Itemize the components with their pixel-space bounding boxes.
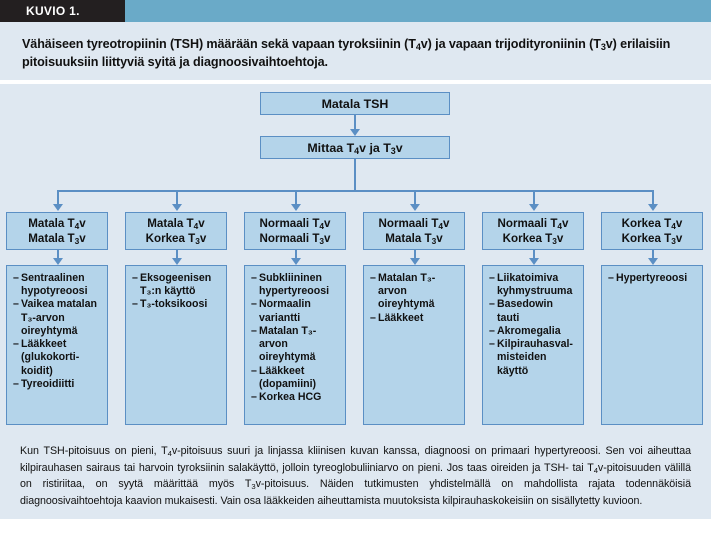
cap-s3-sub: 3 bbox=[251, 482, 255, 491]
c2h2a: Korkea T bbox=[146, 232, 196, 245]
list-item: Tyreoidiitti bbox=[13, 378, 102, 391]
connector-bus-horizontal bbox=[57, 190, 653, 192]
figure-title-block: Vähäiseen tyreotropiinin (TSH) määrään s… bbox=[0, 22, 711, 80]
c5h1s: 4 bbox=[557, 221, 562, 231]
column-list-5-items: Liikatoimiva kyhmystruuma Basedowin taut… bbox=[489, 272, 578, 378]
column-list-6: Hypertyreoosi bbox=[601, 265, 703, 425]
title-line2-subscript: 3 bbox=[601, 42, 606, 52]
c4h2b: v bbox=[436, 232, 442, 245]
arrowhead-list-2 bbox=[172, 258, 182, 265]
column-header-2: Matala T4v Korkea T3v bbox=[125, 212, 227, 250]
col6-head-line2: Korkea T3v bbox=[622, 231, 683, 246]
list-item: Matalan T₃-arvon oireyhtymä bbox=[251, 325, 340, 365]
column-header-1: Matala T4v Matala T3v bbox=[6, 212, 108, 250]
figure-caption-text: Kun TSH-pitoisuus on pieni, T4v-pitoisuu… bbox=[20, 443, 691, 509]
c1h1s: 4 bbox=[75, 221, 80, 231]
arrowhead-col-3 bbox=[291, 204, 301, 211]
col4-head-line2: Matala T3v bbox=[385, 231, 442, 246]
arrowhead-root-to-measure bbox=[350, 129, 360, 136]
col1-head-line1: Matala T4v bbox=[28, 216, 85, 231]
c4h2s: 3 bbox=[432, 236, 437, 246]
arrowhead-list-3 bbox=[291, 258, 301, 265]
c5h2a: Korkea T bbox=[503, 232, 553, 245]
c1h2b: v bbox=[79, 232, 85, 245]
arrowhead-list-1 bbox=[53, 258, 63, 265]
c3h1s: 4 bbox=[319, 221, 324, 231]
arrowhead-list-6 bbox=[648, 258, 658, 265]
c6h2b: v bbox=[676, 232, 682, 245]
flow-node-mittaa: Mittaa T4v ja T3v bbox=[260, 136, 450, 159]
col5-head-line1: Normaali T4v bbox=[497, 216, 568, 231]
c2h1a: Matala T bbox=[147, 217, 193, 230]
c1h2s: 3 bbox=[75, 236, 80, 246]
c4h1a: Normaali T bbox=[378, 217, 438, 230]
col2-head-line2: Korkea T3v bbox=[146, 231, 207, 246]
list-item: Korkea HCG bbox=[251, 391, 340, 404]
column-header-3: Normaali T4v Normaali T3v bbox=[244, 212, 346, 250]
list-item: Lääkkeet (dopamiini) bbox=[251, 365, 340, 391]
c5h1b: v bbox=[562, 217, 568, 230]
list-item: Eksogeenisen T₃:n käyttö bbox=[132, 272, 221, 298]
col2-head-line1: Matala T4v bbox=[147, 216, 204, 231]
c5h2b: v bbox=[557, 232, 563, 245]
arrowhead-col-2 bbox=[172, 204, 182, 211]
arrowhead-col-5 bbox=[529, 204, 539, 211]
mittaa-b: v ja T bbox=[359, 141, 391, 155]
column-list-3-items: Subkliininen hypertyreoosi Normaalin var… bbox=[251, 272, 340, 404]
list-item: Normaalin variantti bbox=[251, 298, 340, 324]
c3h2s: 3 bbox=[319, 236, 324, 246]
mittaa-sub1: 4 bbox=[354, 146, 359, 156]
col4-head-line1: Normaali T4v bbox=[378, 216, 449, 231]
flowchart-area: Matala TSH Mittaa T4v ja T3v Matala T4v … bbox=[0, 84, 711, 434]
list-item: Liikatoimiva kyhmystruuma bbox=[489, 272, 578, 298]
figure-caption-block: Kun TSH-pitoisuus on pieni, T4v-pitoisuu… bbox=[0, 434, 711, 519]
list-item: Sentraalinen hypotyreoosi bbox=[13, 272, 102, 298]
arrowhead-list-4 bbox=[410, 258, 420, 265]
list-item: Basedowin tauti bbox=[489, 298, 578, 324]
title-line1-part-a: Vähäiseen tyreotropiinin (TSH) määrään s… bbox=[22, 37, 416, 51]
cap-s1-sub: 4 bbox=[168, 449, 172, 458]
c3h2b: v bbox=[324, 232, 330, 245]
figure-number-tag: KUVIO 1. bbox=[0, 0, 125, 22]
list-item: T₃-toksikoosi bbox=[132, 298, 221, 311]
c3h1a: Normaali T bbox=[259, 217, 319, 230]
column-list-2: Eksogeenisen T₃:n käyttö T₃-toksikoosi bbox=[125, 265, 227, 425]
c6h1a: Korkea T bbox=[622, 217, 672, 230]
c2h2b: v bbox=[200, 232, 206, 245]
arrowhead-col-1 bbox=[53, 204, 63, 211]
column-list-6-items: Hypertyreoosi bbox=[608, 272, 697, 285]
c4h1b: v bbox=[443, 217, 449, 230]
arrowhead-col-6 bbox=[648, 204, 658, 211]
col3-head-line1: Normaali T4v bbox=[259, 216, 330, 231]
mittaa-sub2: 3 bbox=[391, 146, 396, 156]
column-header-6: Korkea T4v Korkea T3v bbox=[601, 212, 703, 250]
c6h1s: 4 bbox=[671, 221, 676, 231]
list-item: Akromegalia bbox=[489, 325, 578, 338]
c6h2s: 3 bbox=[671, 236, 676, 246]
figure-header-bar: KUVIO 1. bbox=[0, 0, 711, 22]
flow-node-matala-tsh: Matala TSH bbox=[260, 92, 450, 115]
figure-title-text: Vähäiseen tyreotropiinin (TSH) määrään s… bbox=[22, 36, 689, 72]
c4h2a: Matala T bbox=[385, 232, 431, 245]
title-line2-part-a: (T bbox=[589, 37, 601, 51]
column-header-5: Normaali T4v Korkea T3v bbox=[482, 212, 584, 250]
list-item: Vaikea matalan T₃-arvon oireyhtymä bbox=[13, 298, 102, 338]
mittaa-c: v bbox=[396, 141, 403, 155]
list-item: Subkliininen hypertyreoosi bbox=[251, 272, 340, 298]
c5h2s: 3 bbox=[552, 236, 557, 246]
c1h1a: Matala T bbox=[28, 217, 74, 230]
c3h1b: v bbox=[324, 217, 330, 230]
flow-node-mittaa-label: Mittaa T4v ja T3v bbox=[307, 141, 402, 155]
cap-s1: Kun TSH-pitoisuus on pieni, T bbox=[20, 445, 168, 457]
col1-head-line2: Matala T3v bbox=[28, 231, 85, 246]
column-list-4: Matalan T₃-arvon oireyhtymä Lääkkeet bbox=[363, 265, 465, 425]
title-line1-part-b: v) ja vapaan trijodityroniinin bbox=[421, 37, 586, 51]
list-item: Kilpirauhasval-misteiden käyttö bbox=[489, 338, 578, 378]
c6h1b: v bbox=[676, 217, 682, 230]
c2h1s: 4 bbox=[194, 221, 199, 231]
arrowhead-list-5 bbox=[529, 258, 539, 265]
connector-measure-down bbox=[354, 159, 356, 190]
column-list-4-items: Matalan T₃-arvon oireyhtymä Lääkkeet bbox=[370, 272, 459, 325]
title-line1-subscript: 4 bbox=[416, 42, 421, 52]
column-list-1-items: Sentraalinen hypotyreoosi Vaikea matalan… bbox=[13, 272, 102, 391]
col3-head-line2: Normaali T3v bbox=[259, 231, 330, 246]
c1h2a: Matala T bbox=[28, 232, 74, 245]
col6-head-line1: Korkea T4v bbox=[622, 216, 683, 231]
c6h2a: Korkea T bbox=[622, 232, 672, 245]
cap-s2-sub: 4 bbox=[594, 466, 598, 475]
c3h2a: Normaali T bbox=[259, 232, 319, 245]
flow-node-matala-tsh-label: Matala TSH bbox=[322, 97, 389, 111]
arrowhead-col-4 bbox=[410, 204, 420, 211]
list-item: Hypertyreoosi bbox=[608, 272, 697, 285]
col5-head-line2: Korkea T3v bbox=[503, 231, 564, 246]
list-item: Matalan T₃-arvon oireyhtymä bbox=[370, 272, 459, 312]
figure-panel: KUVIO 1. Vähäiseen tyreotropiinin (TSH) … bbox=[0, 0, 711, 553]
c2h1b: v bbox=[198, 217, 204, 230]
c1h1b: v bbox=[79, 217, 85, 230]
list-item: Lääkkeet (glukokorti-koidit) bbox=[13, 338, 102, 378]
column-list-5: Liikatoimiva kyhmystruuma Basedowin taut… bbox=[482, 265, 584, 425]
column-header-4: Normaali T4v Matala T3v bbox=[363, 212, 465, 250]
column-list-1: Sentraalinen hypotyreoosi Vaikea matalan… bbox=[6, 265, 108, 425]
c5h1a: Normaali T bbox=[497, 217, 557, 230]
mittaa-a: Mittaa T bbox=[307, 141, 354, 155]
column-list-2-items: Eksogeenisen T₃:n käyttö T₃-toksikoosi bbox=[132, 272, 221, 312]
list-item: Lääkkeet bbox=[370, 312, 459, 325]
column-list-3: Subkliininen hypertyreoosi Normaalin var… bbox=[244, 265, 346, 425]
c2h2s: 3 bbox=[195, 236, 200, 246]
c4h1s: 4 bbox=[438, 221, 443, 231]
